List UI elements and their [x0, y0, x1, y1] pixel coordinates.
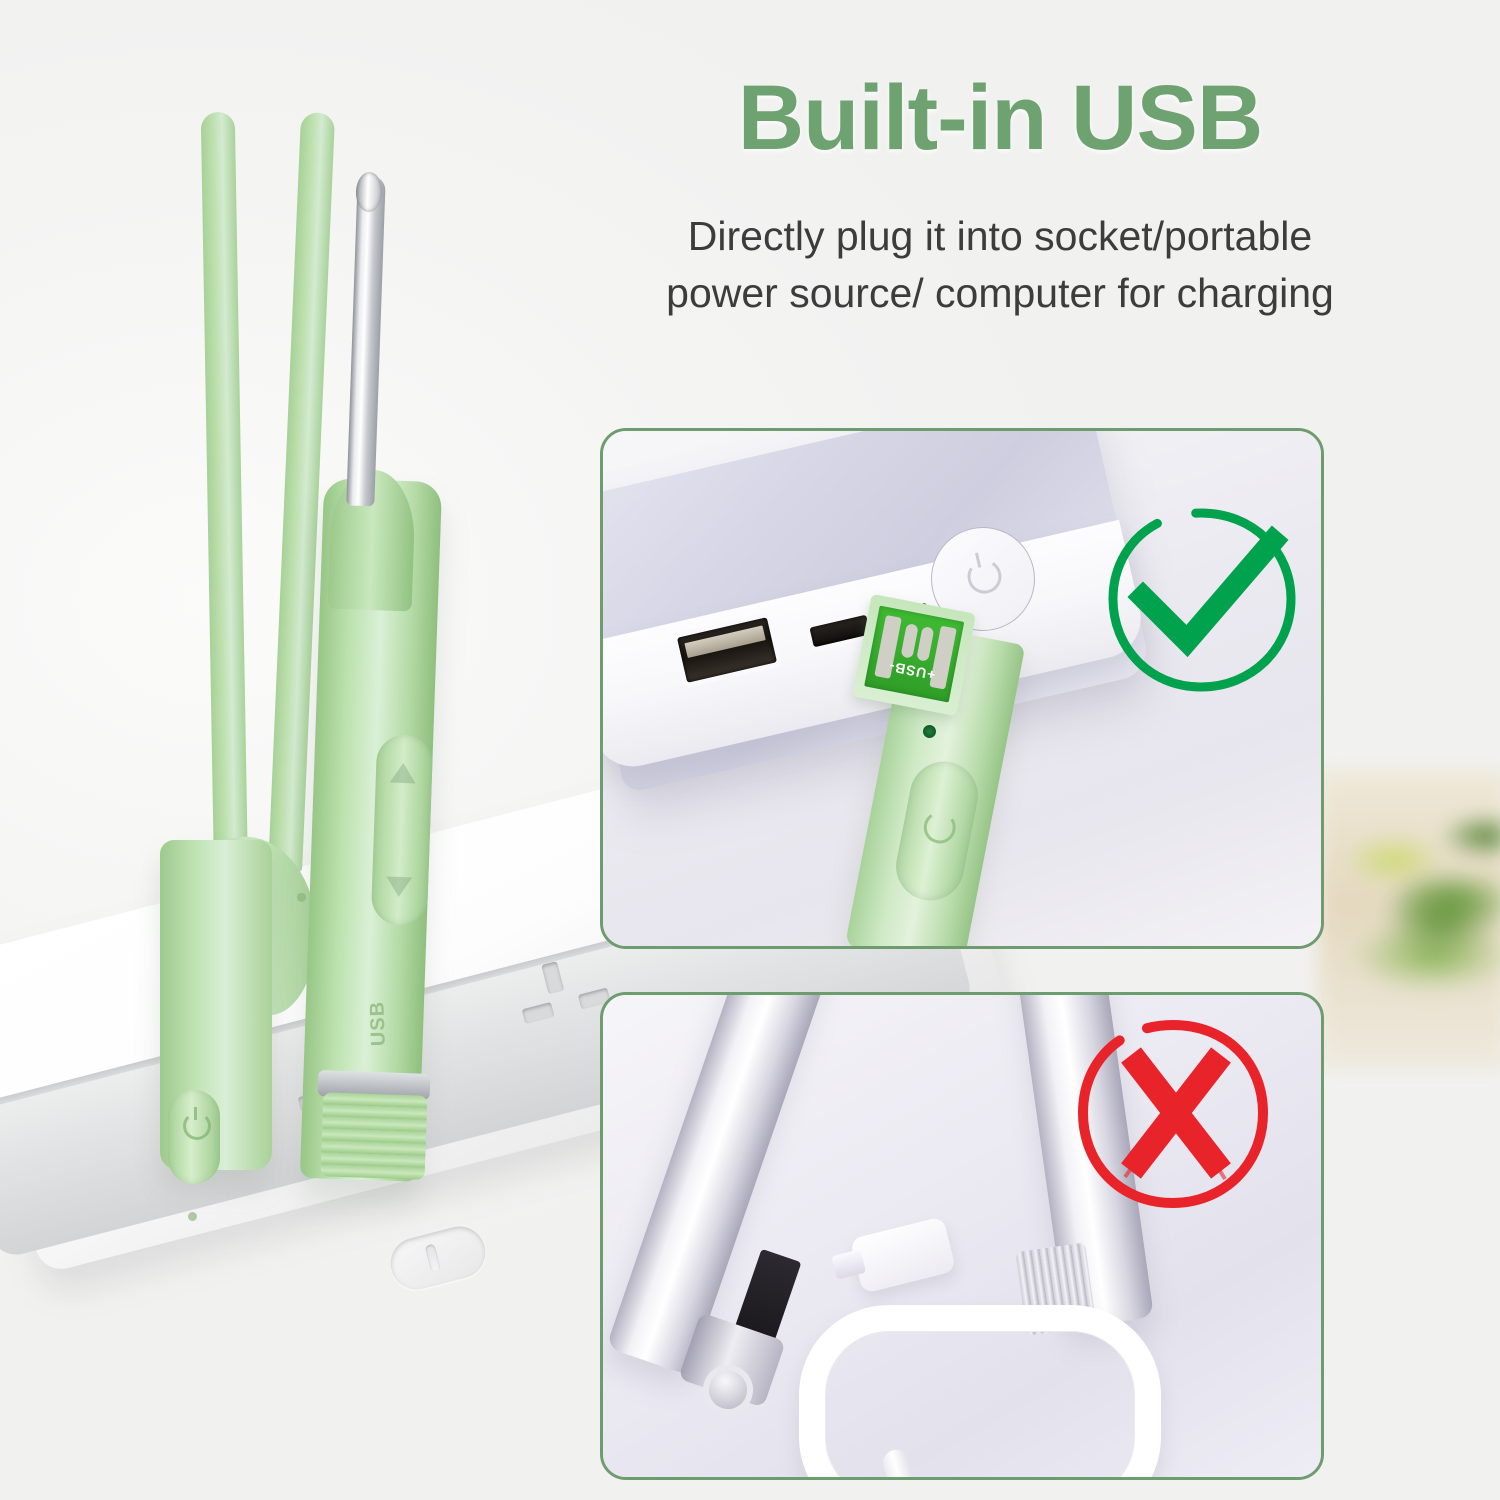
infographic-canvas: USB Built-in USB Directly plug it into s…	[0, 0, 1500, 1500]
page-title: Built-in USB	[650, 70, 1350, 167]
background-plant-highlight	[1350, 840, 1500, 1040]
incorrect-usage-panel	[600, 992, 1324, 1480]
usb-connector-pcb: +USB-	[852, 594, 976, 716]
usb-cable-loop	[799, 1305, 1161, 1480]
subtitle-line-2: power source/ computer for charging	[575, 265, 1425, 322]
correct-usage-panel: +USB-	[600, 428, 1324, 949]
ear-pick-usb-cap	[321, 1092, 428, 1180]
usb-imprint-label: USB	[366, 1000, 391, 1046]
subtitle-line-1: Directly plug it into socket/portable	[575, 208, 1425, 265]
cross-mark-icon	[1073, 1013, 1273, 1213]
check-mark-icon	[1101, 499, 1301, 699]
page-subtitle: Directly plug it into socket/portable po…	[575, 208, 1425, 321]
ear-pick-mode-button[interactable]	[371, 734, 434, 926]
led-indicator-icon	[188, 1212, 197, 1221]
power-button-icon	[183, 1112, 211, 1140]
